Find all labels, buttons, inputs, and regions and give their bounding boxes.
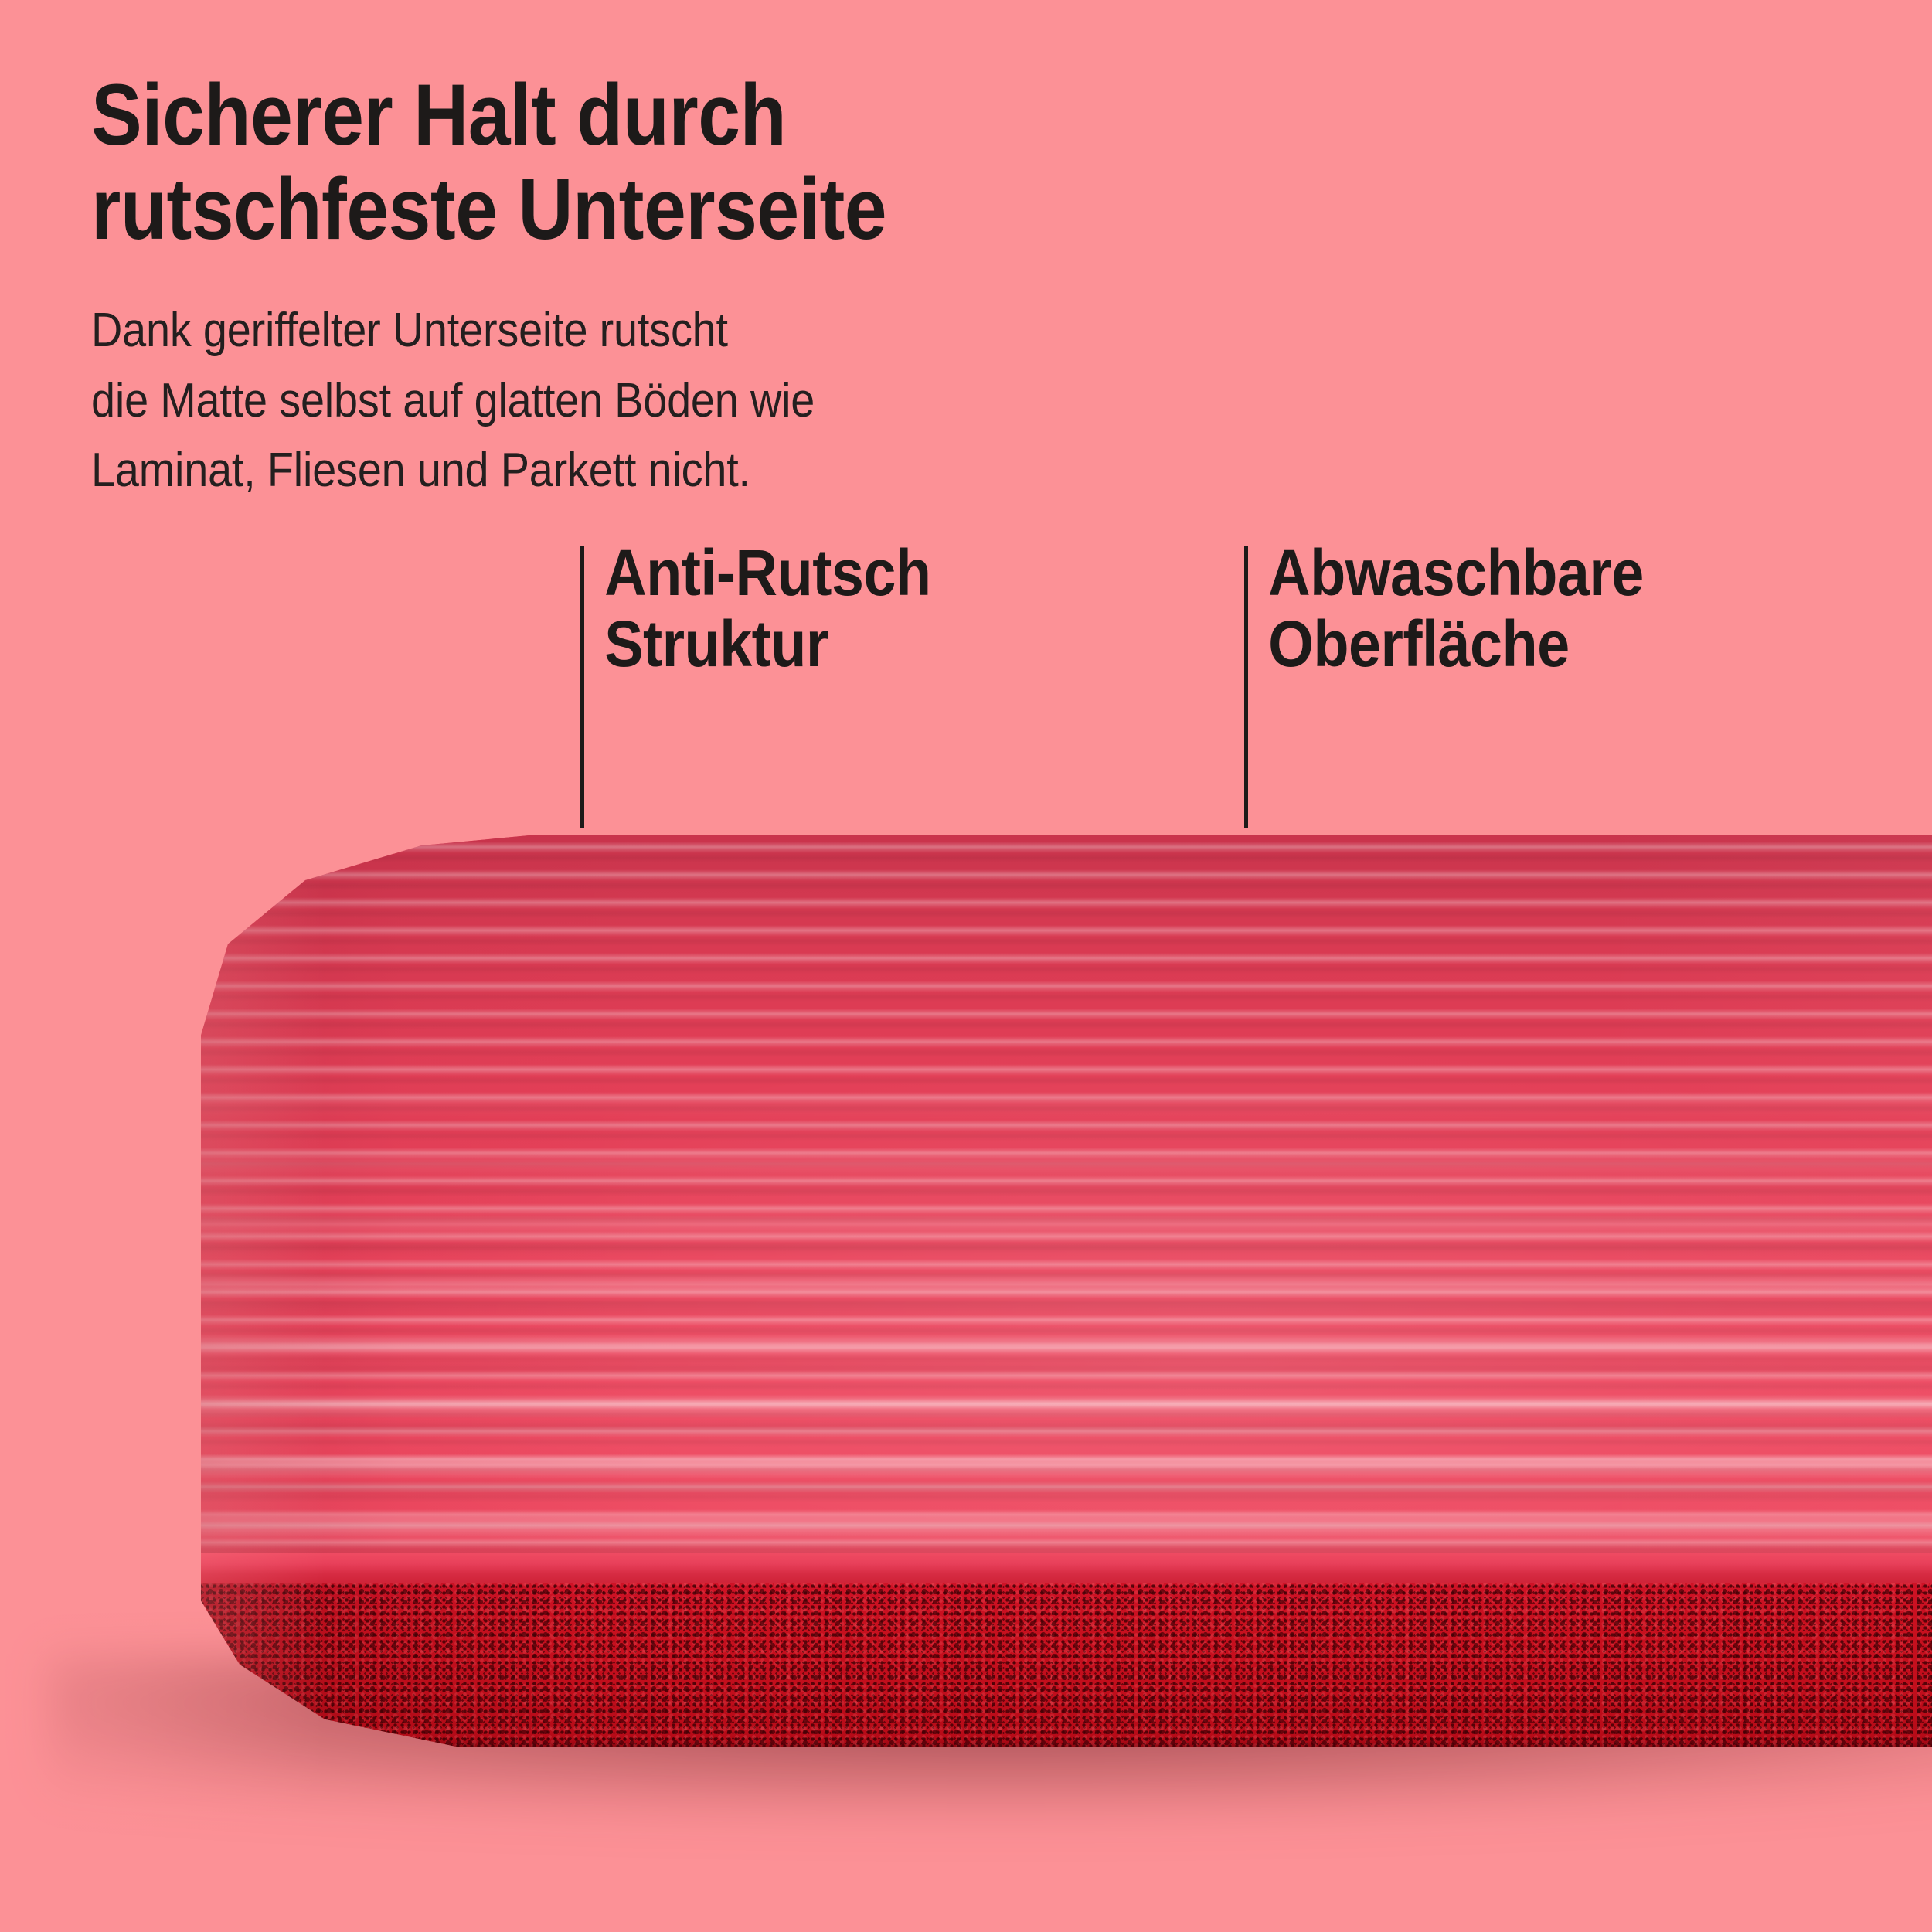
feature-label: Anti-Rutsch Struktur xyxy=(584,538,931,679)
feature-callout-anti-rutsch-struktur: Anti-Rutsch Struktur xyxy=(580,546,1244,828)
mat-body xyxy=(93,835,1932,1747)
feature-callout-abwaschbare-oberflaeche: Abwaschbare Oberfläche xyxy=(1244,546,1908,828)
body-paragraph: Dank geriffelter Unterseite rutscht die … xyxy=(91,256,995,506)
product-feature-banner: Sicherer Halt durch rutschfeste Untersei… xyxy=(0,0,1932,1932)
mat-top-highlight xyxy=(93,835,1932,1573)
feature-callout-list: Anti-Rutsch Struktur Abwaschbare Oberflä… xyxy=(580,546,1908,828)
feature-label: Abwaschbare Oberfläche xyxy=(1248,538,1644,679)
product-image-fitness-mat xyxy=(0,835,1932,1932)
page-title: Sicherer Halt durch rutschfeste Untersei… xyxy=(91,68,975,256)
copy-block: Sicherer Halt durch rutschfeste Untersei… xyxy=(91,68,1096,506)
